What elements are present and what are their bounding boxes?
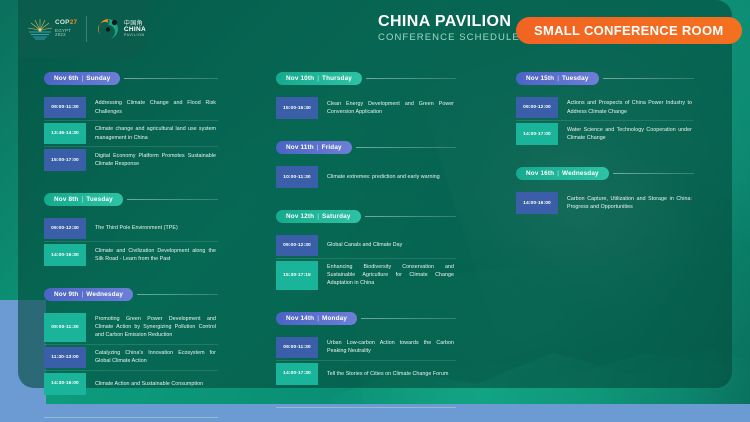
- day-header: Nov 11th|Friday: [276, 141, 456, 154]
- session-title: Climate Action and Sustainable Consumpti…: [86, 371, 218, 397]
- day-date: Nov 12th: [286, 213, 314, 220]
- day-rule: [613, 173, 694, 174]
- session-row[interactable]: 15:00-16:30Clean Energy Development and …: [276, 95, 456, 121]
- session-title: The Third Pole Environment (TPE): [86, 216, 218, 241]
- session-title: Carbon Capture, Utilization and Storage …: [558, 190, 694, 216]
- session-title: Clean Energy Development and Green Power…: [318, 95, 456, 121]
- session-title: Climate extremes: prediction and early w…: [318, 164, 456, 190]
- session-time: 14:00-16:30: [44, 244, 86, 266]
- session-row[interactable]: 14:00-17:00Water Science and Technology …: [516, 121, 694, 147]
- day-header: Nov 9th|Wednesday: [44, 288, 218, 301]
- day-rule: [361, 318, 456, 319]
- session-title: Addressing Climate Change and Flood Risk…: [86, 95, 218, 120]
- session-row[interactable]: 09:00-11:30Urban Low-carbon Action towar…: [276, 335, 456, 361]
- schedule-column: Nov 6th|Sunday09:00-11:30Addressing Clim…: [0, 72, 238, 418]
- session-time: 14:00-17:00: [516, 123, 558, 145]
- day-rule: [603, 78, 694, 79]
- day-pill[interactable]: Nov 16th|Wednesday: [516, 167, 609, 180]
- column-bottom-rule: [44, 417, 218, 418]
- session-time: 10:00-11:30: [276, 166, 318, 188]
- day-header: Nov 6th|Sunday: [44, 72, 218, 85]
- session-row[interactable]: 14:00-16:30Climate and Civilization Deve…: [44, 242, 218, 268]
- session-title: Digital Economy Platform Promotes Sustai…: [86, 147, 218, 173]
- day-date: Nov 11th: [286, 144, 314, 151]
- session-time: 09:00-11:30: [44, 97, 86, 118]
- day-weekday: Thursday: [322, 75, 352, 82]
- session-time: 09:00-12:30: [276, 235, 318, 256]
- day-group: Nov 8th|Tuesday09:00-12:30The Third Pole…: [44, 193, 218, 268]
- session-time: 14:00-16:00: [516, 192, 558, 214]
- session-row[interactable]: 14:30-16:00Climate Action and Sustainabl…: [44, 371, 218, 397]
- day-weekday: Tuesday: [562, 75, 589, 82]
- column-bottom-rule: [276, 407, 456, 408]
- session-row[interactable]: 09:00-12:30Global Canals and Climate Day: [276, 233, 456, 259]
- day-header: Nov 14th|Monday: [276, 312, 456, 325]
- day-weekday: Friday: [322, 144, 342, 151]
- day-separator: |: [317, 144, 319, 151]
- session-title: Global Canals and Climate Day: [318, 233, 456, 258]
- session-row[interactable]: 15:30-17:15Enhancing Biodiversity Conser…: [276, 259, 456, 292]
- day-pill[interactable]: Nov 10th|Thursday: [276, 72, 362, 85]
- session-title: Actions and Prospects of China Power Ind…: [558, 95, 694, 120]
- conference-schedule-poster: COP27 EGYPT 2022 中国角 CHINA: [0, 0, 750, 422]
- day-pill[interactable]: Nov 11th|Friday: [276, 141, 352, 154]
- session-time: 11:30-13:00: [44, 347, 86, 368]
- session-time: 09:00-12:00: [516, 97, 558, 118]
- day-separator: |: [81, 196, 83, 203]
- day-weekday: Monday: [322, 315, 347, 322]
- day-separator: |: [317, 315, 319, 322]
- day-group: Nov 9th|Wednesday09:00-11:30Promoting Gr…: [44, 288, 218, 397]
- day-date: Nov 10th: [286, 75, 314, 82]
- day-date: Nov 9th: [54, 291, 78, 298]
- session-time: 09:00-11:30: [44, 313, 86, 342]
- session-row[interactable]: 10:00-11:30Climate extremes: prediction …: [276, 164, 456, 190]
- day-rule: [127, 199, 218, 200]
- session-title: Promoting Green Power Development and Cl…: [86, 311, 218, 344]
- day-header: Nov 16th|Wednesday: [516, 167, 694, 180]
- day-separator: |: [557, 75, 559, 82]
- day-pill[interactable]: Nov 15th|Tuesday: [516, 72, 599, 85]
- day-group: Nov 12th|Saturday09:00-12:30Global Canal…: [276, 210, 456, 292]
- session-title: Urban Low-carbon Action towards the Carb…: [318, 335, 456, 360]
- session-title: Climate and Civilization Development alo…: [86, 242, 218, 268]
- session-time: 14:30-16:00: [44, 373, 86, 395]
- session-row[interactable]: 11:30-13:00Catalyzing China's Innovation…: [44, 345, 218, 371]
- day-separator: |: [317, 75, 319, 82]
- day-pill[interactable]: Nov 14th|Monday: [276, 312, 357, 325]
- day-date: Nov 15th: [526, 75, 554, 82]
- day-date: Nov 14th: [286, 315, 314, 322]
- day-separator: |: [81, 75, 83, 82]
- session-time: 09:00-11:30: [276, 337, 318, 358]
- day-pill[interactable]: Nov 8th|Tuesday: [44, 193, 123, 206]
- day-weekday: Wednesday: [562, 170, 599, 177]
- session-row[interactable]: 14:00-17:30Tell the Stories of Cities on…: [276, 361, 456, 387]
- day-group: Nov 10th|Thursday15:00-16:30Clean Energy…: [276, 72, 456, 121]
- session-title: Water Science and Technology Cooperation…: [558, 121, 694, 147]
- day-header: Nov 15th|Tuesday: [516, 72, 694, 85]
- session-time: 09:00-12:30: [44, 218, 86, 239]
- session-time: 15:30-17:15: [276, 261, 318, 290]
- day-group: Nov 16th|Wednesday14:00-16:00Carbon Capt…: [516, 167, 694, 216]
- day-pill[interactable]: Nov 6th|Sunday: [44, 72, 120, 85]
- session-time: 14:00-17:30: [276, 363, 318, 385]
- day-group: Nov 11th|Friday10:00-11:30Climate extrem…: [276, 141, 456, 190]
- session-title: Climate change and agricultural land use…: [86, 121, 218, 146]
- day-header: Nov 8th|Tuesday: [44, 193, 218, 206]
- session-title: Enhancing Biodiversity Conservation and …: [318, 259, 456, 292]
- session-row[interactable]: 09:00-11:30Addressing Climate Change and…: [44, 95, 218, 121]
- session-title: Tell the Stories of Cities on Climate Ch…: [318, 361, 456, 387]
- day-date: Nov 16th: [526, 170, 554, 177]
- day-separator: |: [317, 213, 319, 220]
- day-header: Nov 10th|Thursday: [276, 72, 456, 85]
- session-time: 15:00-17:00: [44, 149, 86, 171]
- day-group: Nov 6th|Sunday09:00-11:30Addressing Clim…: [44, 72, 218, 173]
- day-weekday: Sunday: [86, 75, 110, 82]
- day-rule: [365, 216, 456, 217]
- session-row[interactable]: 09:00-12:30The Third Pole Environment (T…: [44, 216, 218, 242]
- day-rule: [366, 78, 456, 79]
- day-rule: [137, 294, 218, 295]
- day-header: Nov 12th|Saturday: [276, 210, 456, 223]
- day-separator: |: [81, 291, 83, 298]
- session-time: 15:00-16:30: [276, 97, 318, 119]
- session-row[interactable]: 09:00-12:00Actions and Prospects of Chin…: [516, 95, 694, 121]
- schedule-column: Nov 15th|Tuesday09:00-12:00Actions and P…: [476, 72, 714, 418]
- day-rule: [124, 78, 218, 79]
- day-date: Nov 6th: [54, 75, 78, 82]
- session-row[interactable]: 09:00-11:30Promoting Green Power Develop…: [44, 311, 218, 345]
- session-row[interactable]: 14:00-16:00Carbon Capture, Utilization a…: [516, 190, 694, 216]
- day-weekday: Wednesday: [86, 291, 123, 298]
- session-title: Catalyzing China's Innovation Ecosystem …: [86, 345, 218, 370]
- schedule-columns: Nov 6th|Sunday09:00-11:30Addressing Clim…: [0, 0, 714, 418]
- day-pill[interactable]: Nov 9th|Wednesday: [44, 288, 133, 301]
- schedule-column: Nov 10th|Thursday15:00-16:30Clean Energy…: [238, 72, 476, 418]
- session-row[interactable]: 15:00-17:00Digital Economy Platform Prom…: [44, 147, 218, 173]
- session-time: 13:45-14:30: [44, 123, 86, 144]
- session-row[interactable]: 13:45-14:30Climate change and agricultur…: [44, 121, 218, 147]
- day-weekday: Tuesday: [86, 196, 113, 203]
- day-weekday: Saturday: [322, 213, 351, 220]
- day-group: Nov 14th|Monday09:00-11:30Urban Low-carb…: [276, 312, 456, 387]
- day-group: Nov 15th|Tuesday09:00-12:00Actions and P…: [516, 72, 694, 147]
- day-rule: [356, 147, 456, 148]
- day-date: Nov 8th: [54, 196, 78, 203]
- day-pill[interactable]: Nov 12th|Saturday: [276, 210, 361, 223]
- day-separator: |: [557, 170, 559, 177]
